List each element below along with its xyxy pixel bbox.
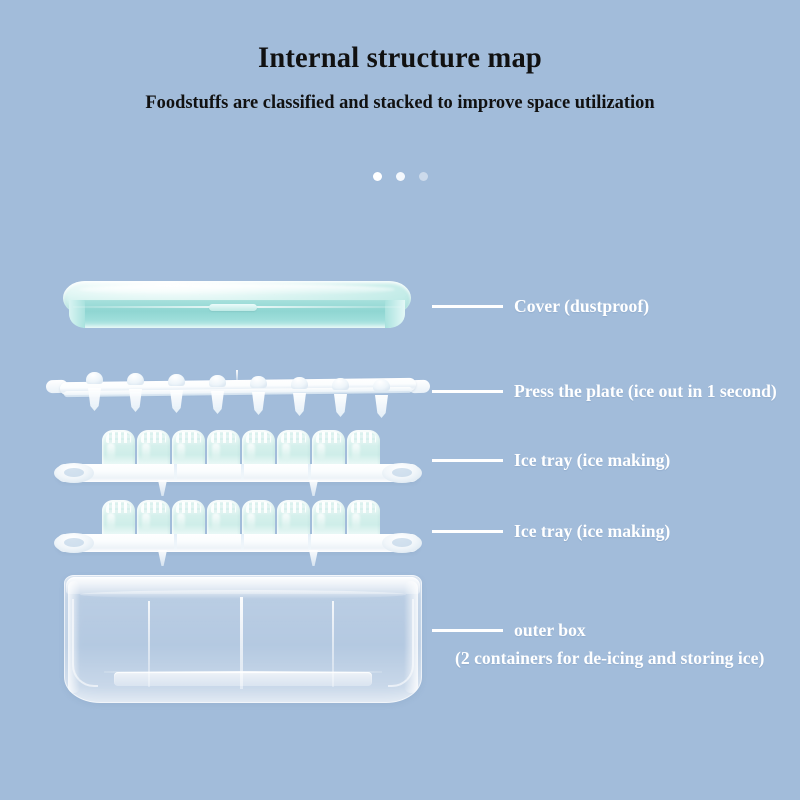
ice-tray-foot — [309, 550, 318, 566]
carousel-dot-1[interactable] — [373, 172, 382, 181]
press-plate-nub — [373, 379, 390, 391]
ice-cell-texture — [176, 432, 201, 443]
ice-cell-highlight — [247, 513, 255, 531]
ice-cell-highlight — [107, 443, 115, 461]
page-title: Internal structure map — [20, 43, 780, 73]
outer-box-icon — [64, 575, 422, 703]
ice-tray-rib — [241, 464, 244, 481]
leader-line-outer-box — [432, 629, 503, 632]
press-plate-nub — [209, 375, 226, 387]
press-plate-nub — [332, 378, 349, 390]
callout-label-outer-box: outer box — [514, 620, 586, 641]
press-plate-peg — [334, 394, 347, 417]
ice-tray-foot — [309, 480, 318, 496]
press-plate-nub — [86, 372, 103, 384]
outer-box-right-corner — [388, 599, 414, 687]
leader-line-press-plate — [432, 390, 503, 393]
press-plate-peg — [252, 392, 265, 415]
ice-cell-highlight — [177, 443, 185, 461]
ice-tray-right-notch — [392, 468, 412, 477]
ice-cell-texture — [281, 502, 306, 513]
press-plate-peg — [170, 390, 183, 413]
press-plate-peg — [129, 389, 142, 412]
ice-tray-left-notch — [64, 538, 84, 547]
outer-box-inner-edge — [80, 590, 406, 599]
ice-cell-highlight — [177, 513, 185, 531]
ice-cell-texture — [211, 502, 236, 513]
carousel-dot-2[interactable] — [396, 172, 405, 181]
page-subtitle: Foodstuffs are classified and stacked to… — [12, 93, 788, 112]
ice-cell-highlight — [107, 513, 115, 531]
ice-cell-highlight — [212, 443, 220, 461]
ice-cell-highlight — [247, 443, 255, 461]
ice-tray-rib — [241, 534, 244, 551]
ice-tray-foot — [158, 550, 167, 566]
ice-tray-rib — [174, 464, 177, 481]
ice-tray-rib — [308, 534, 311, 551]
press-plate-nub — [168, 374, 185, 386]
ice-cell-texture — [281, 432, 306, 443]
ice-cell-highlight — [317, 443, 325, 461]
ice-tray-left-notch — [64, 468, 84, 477]
ice-cell-texture — [246, 502, 271, 513]
ice-cell-texture — [316, 502, 341, 513]
header: Internal structure map Foodstuffs are cl… — [0, 0, 800, 112]
press-plate-nub — [291, 377, 308, 389]
lid-tab — [209, 304, 257, 311]
leader-line-ice-tray-2 — [432, 530, 503, 533]
carousel-dots — [0, 172, 800, 181]
ice-cell-highlight — [317, 513, 325, 531]
callout-label-ice-tray-2: Ice tray (ice making) — [514, 521, 670, 542]
carousel-dot-3[interactable] — [419, 172, 428, 181]
ice-cell-texture — [316, 432, 341, 443]
lid-icon — [63, 281, 411, 329]
ice-cell-highlight — [352, 443, 360, 461]
press-plate-peg — [293, 393, 306, 416]
press-plate-peg — [375, 395, 388, 418]
ice-cell-texture — [176, 502, 201, 513]
callout-label-outer-box-detail: (2 containers for de-icing and storing i… — [455, 648, 764, 669]
press-plate-peg — [211, 391, 224, 414]
ice-cell-texture — [106, 502, 131, 513]
press-plate-spike — [236, 370, 238, 382]
callout-cover: Cover (dustproof) — [432, 296, 652, 317]
ice-tray-base — [56, 534, 420, 552]
ice-tray-icon — [56, 430, 420, 492]
callout-ice-tray-2: Ice tray (ice making) — [432, 521, 673, 542]
ice-cell-highlight — [282, 443, 290, 461]
press-plate-icon — [60, 368, 416, 414]
ice-cell-highlight — [212, 513, 220, 531]
ice-tray-right-notch — [392, 538, 412, 547]
ice-cell-texture — [351, 432, 376, 443]
leader-line-ice-tray-1 — [432, 459, 503, 462]
ice-cell-highlight — [142, 443, 150, 461]
ice-tray-base — [56, 464, 420, 482]
ice-cell-texture — [351, 502, 376, 513]
outer-box-floor — [114, 672, 372, 686]
callout-label-press-plate: Press the plate (ice out in 1 second) — [514, 381, 777, 402]
ice-cell-texture — [141, 432, 166, 443]
callout-label-cover: Cover (dustproof) — [514, 296, 649, 317]
callout-outer-box: outer box — [432, 620, 587, 641]
ice-cell-highlight — [352, 513, 360, 531]
ice-tray-foot — [158, 480, 167, 496]
leader-line-cover — [432, 305, 503, 308]
callout-press-plate: Press the plate (ice out in 1 second) — [432, 381, 782, 402]
ice-cell-texture — [211, 432, 236, 443]
callout-ice-tray-1: Ice tray (ice making) — [432, 450, 673, 471]
ice-tray-rib — [174, 534, 177, 551]
ice-tray-rib — [308, 464, 311, 481]
ice-cell-highlight — [142, 513, 150, 531]
outer-box-left-corner — [72, 599, 98, 687]
ice-cell-texture — [106, 432, 131, 443]
press-plate-nub — [127, 373, 144, 385]
ice-cell-texture — [246, 432, 271, 443]
callout-label-ice-tray-1: Ice tray (ice making) — [514, 450, 670, 471]
ice-tray-icon — [56, 500, 420, 562]
press-plate-peg — [88, 388, 101, 411]
press-plate-nub — [250, 376, 267, 388]
ice-cell-texture — [141, 502, 166, 513]
ice-cell-highlight — [282, 513, 290, 531]
